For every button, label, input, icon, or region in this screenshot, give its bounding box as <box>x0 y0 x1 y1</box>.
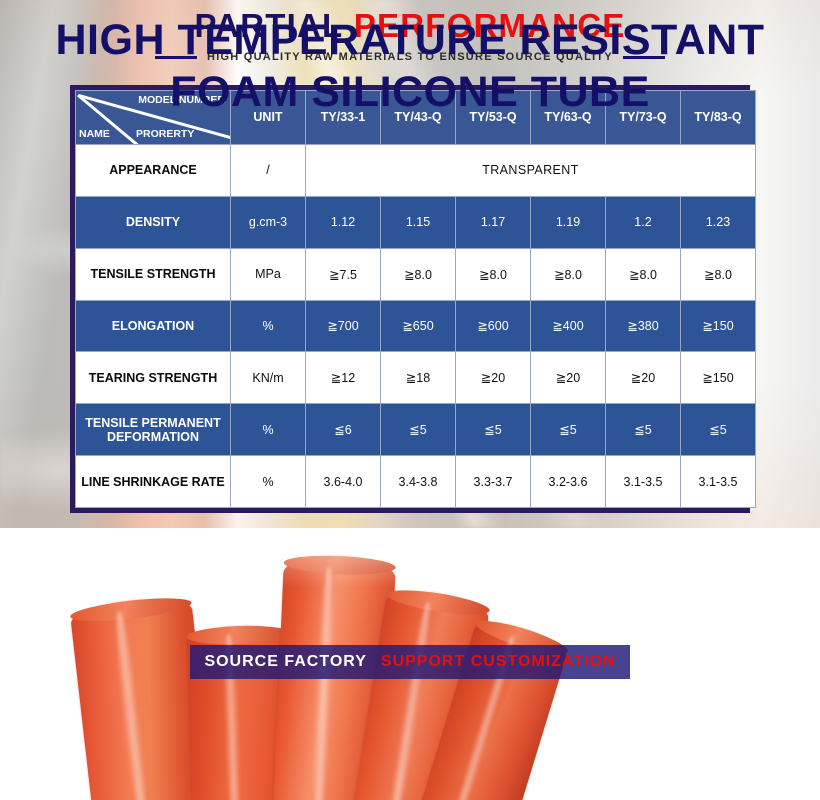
row-value-cell: 1.15 <box>381 196 456 248</box>
corner-label-property: PRORERTY <box>136 128 194 140</box>
row-value-cell: 3.2-3.6 <box>531 456 606 508</box>
row-value-cell: ≧20 <box>606 352 681 404</box>
row-value-cell: 1.19 <box>531 196 606 248</box>
table-row: DENSITYg.cm-31.121.151.171.191.21.23 <box>76 196 756 248</box>
row-unit: % <box>231 300 306 352</box>
row-value-cell: ≧20 <box>531 352 606 404</box>
row-value-cell: 1.23 <box>681 196 756 248</box>
table-row: TENSILE STRENGTHMPa≧7.5≧8.0≧8.0≧8.0≧8.0≧… <box>76 248 756 300</box>
row-value-cell: ≦5 <box>681 404 756 456</box>
row-property-label: DENSITY <box>76 196 231 248</box>
row-unit: KN/m <box>231 352 306 404</box>
specification-table-frame: MODEL NUMBERPRORERTYNAMEUNITTY/33-1TY/43… <box>70 85 750 513</box>
row-unit: / <box>231 144 306 196</box>
row-value-cell: 3.4-3.8 <box>381 456 456 508</box>
table-row: APPEARANCE/TRANSPARENT <box>76 144 756 196</box>
tube-highlight <box>386 601 435 800</box>
row-value-cell: 1.17 <box>456 196 531 248</box>
row-unit: g.cm-3 <box>231 196 306 248</box>
tagline-source-factory: SOURCE FACTORY <box>204 653 366 671</box>
row-value-cell: ≧7.5 <box>306 248 381 300</box>
row-value-cell: ≧150 <box>681 352 756 404</box>
row-property-label: TENSILE STRENGTH <box>76 248 231 300</box>
row-value-cell: ≦5 <box>456 404 531 456</box>
tagline-support-customization: SUPPORT CUSTOMIZATION <box>381 653 616 671</box>
row-value-cell: ≦5 <box>531 404 606 456</box>
row-value-cell: ≧700 <box>306 300 381 352</box>
row-value-cell: 3.1-3.5 <box>606 456 681 508</box>
product-headline-line1: HIGH TEMPERATURE RESISTANT <box>56 16 765 64</box>
row-value-cell: ≧150 <box>681 300 756 352</box>
row-property-label: ELONGATION <box>76 300 231 352</box>
row-value-cell: ≧380 <box>606 300 681 352</box>
table-row: TEARING STRENGTHKN/m≧12≧18≧20≧20≧20≧150 <box>76 352 756 404</box>
row-unit: % <box>231 456 306 508</box>
product-headline: HIGH TEMPERATURE RESISTANT FOAM SILICONE… <box>0 14 820 118</box>
row-value-cell: ≧18 <box>381 352 456 404</box>
row-value-cell: ≦6 <box>306 404 381 456</box>
row-value-cell: 3.6-4.0 <box>306 456 381 508</box>
row-value-cell: ≧400 <box>531 300 606 352</box>
product-headline-line2: FOAM SILICONE TUBE <box>0 66 820 118</box>
row-merged-value: TRANSPARENT <box>306 144 756 196</box>
row-value-cell: ≧8.0 <box>606 248 681 300</box>
row-value-cell: 3.1-3.5 <box>681 456 756 508</box>
specification-table: MODEL NUMBERPRORERTYNAMEUNITTY/33-1TY/43… <box>75 90 756 508</box>
table-row: TENSILE PERMANENT DEFORMATION%≦6≦5≦5≦5≦5… <box>76 404 756 456</box>
row-property-label: TENSILE PERMANENT DEFORMATION <box>76 404 231 456</box>
row-value-cell: ≧8.0 <box>681 248 756 300</box>
tube-highlight <box>112 610 152 800</box>
row-property-label: APPEARANCE <box>76 144 231 196</box>
row-value-cell: ≧600 <box>456 300 531 352</box>
row-unit: % <box>231 404 306 456</box>
row-property-label: TEARING STRENGTH <box>76 352 231 404</box>
row-value-cell: 1.2 <box>606 196 681 248</box>
tube-cap <box>69 594 192 626</box>
row-unit: MPa <box>231 248 306 300</box>
row-value-cell: ≧8.0 <box>531 248 606 300</box>
row-value-cell: ≧650 <box>381 300 456 352</box>
row-property-label: LINE SHRINKAGE RATE <box>76 456 231 508</box>
table-row: ELONGATION%≧700≧650≧600≧400≧380≧150 <box>76 300 756 352</box>
row-value-cell: ≧20 <box>456 352 531 404</box>
row-value-cell: ≧12 <box>306 352 381 404</box>
row-value-cell: 3.3-3.7 <box>456 456 531 508</box>
corner-label-name: NAME <box>79 128 110 140</box>
row-value-cell: ≦5 <box>381 404 456 456</box>
row-value-cell: ≧8.0 <box>381 248 456 300</box>
tube-cap <box>385 585 491 619</box>
tagline-ribbon: SOURCE FACTORY SUPPORT CUSTOMIZATION <box>190 645 630 679</box>
tube-cap <box>283 554 396 577</box>
row-value-cell: ≦5 <box>606 404 681 456</box>
row-value-cell: 1.12 <box>306 196 381 248</box>
tube-cap <box>186 624 291 646</box>
tube-highlight <box>310 567 336 800</box>
table-row: LINE SHRINKAGE RATE%3.6-4.03.4-3.83.3-3.… <box>76 456 756 508</box>
row-value-cell: ≧8.0 <box>456 248 531 300</box>
